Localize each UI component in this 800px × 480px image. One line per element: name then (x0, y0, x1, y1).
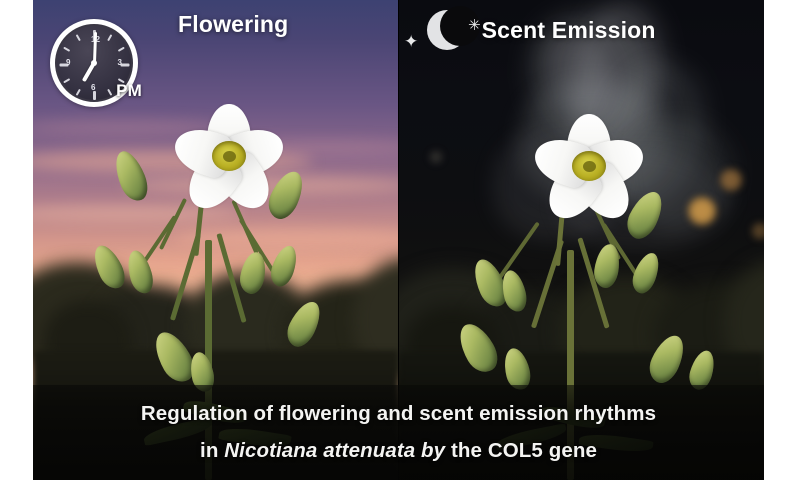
sparkle-star-icon: ✳ (468, 16, 481, 34)
caption-line2-prefix: in (200, 439, 224, 462)
clock-tick (93, 91, 96, 100)
flower-bud (123, 248, 156, 296)
clock-tick (76, 89, 81, 96)
clock-numeral-9: 9 (66, 58, 70, 67)
nicotiana-flower (533, 116, 645, 216)
clock-numeral-6: 6 (91, 83, 95, 92)
clock-tick (63, 47, 70, 52)
nicotiana-flower (173, 106, 285, 206)
flower-bud (88, 241, 130, 293)
clock-tick (63, 78, 70, 83)
clock-tick (76, 34, 81, 41)
flower-bud (267, 243, 301, 290)
flower-bud (452, 318, 504, 378)
scent-emission-heading: ✦ ✳ Scent Emission (427, 8, 656, 52)
clock-pm-label: PM (116, 81, 142, 101)
crescent-moon-icon: ✦ (427, 10, 467, 50)
caption-line-1: Regulation of flowering and scent emissi… (141, 402, 656, 426)
flower-throat (223, 151, 236, 162)
flower-bud (282, 297, 326, 352)
figure-caption: Regulation of flowering and scent emissi… (33, 385, 764, 480)
clock-tick (107, 34, 112, 41)
star-icon: ✦ (404, 33, 418, 50)
caption-species-name: Nicotiana attenuata by (224, 439, 445, 462)
clock-tick (107, 89, 112, 96)
figure-image: 12 3 6 9 PM Flowering (33, 0, 764, 480)
panel-title-flowering: Flowering (178, 11, 288, 38)
caption-line2-suffix: the COL5 gene (445, 439, 597, 462)
caption-line-2: in Nicotiana attenuata by the COL5 gene (200, 439, 597, 463)
flower-bud (109, 147, 153, 205)
clock-center-pin (91, 60, 97, 66)
flower-throat (583, 161, 596, 172)
analog-clock-badge: 12 3 6 9 PM (50, 19, 138, 107)
panel-title-scent-emission: Scent Emission (482, 17, 656, 44)
clock-minute-hand (93, 32, 97, 63)
clock-tick (118, 47, 125, 52)
page-root: 12 3 6 9 PM Flowering (0, 0, 800, 480)
flower-bud (644, 330, 690, 387)
flower-bud (628, 250, 663, 297)
clock-numeral-3: 3 (118, 58, 122, 67)
